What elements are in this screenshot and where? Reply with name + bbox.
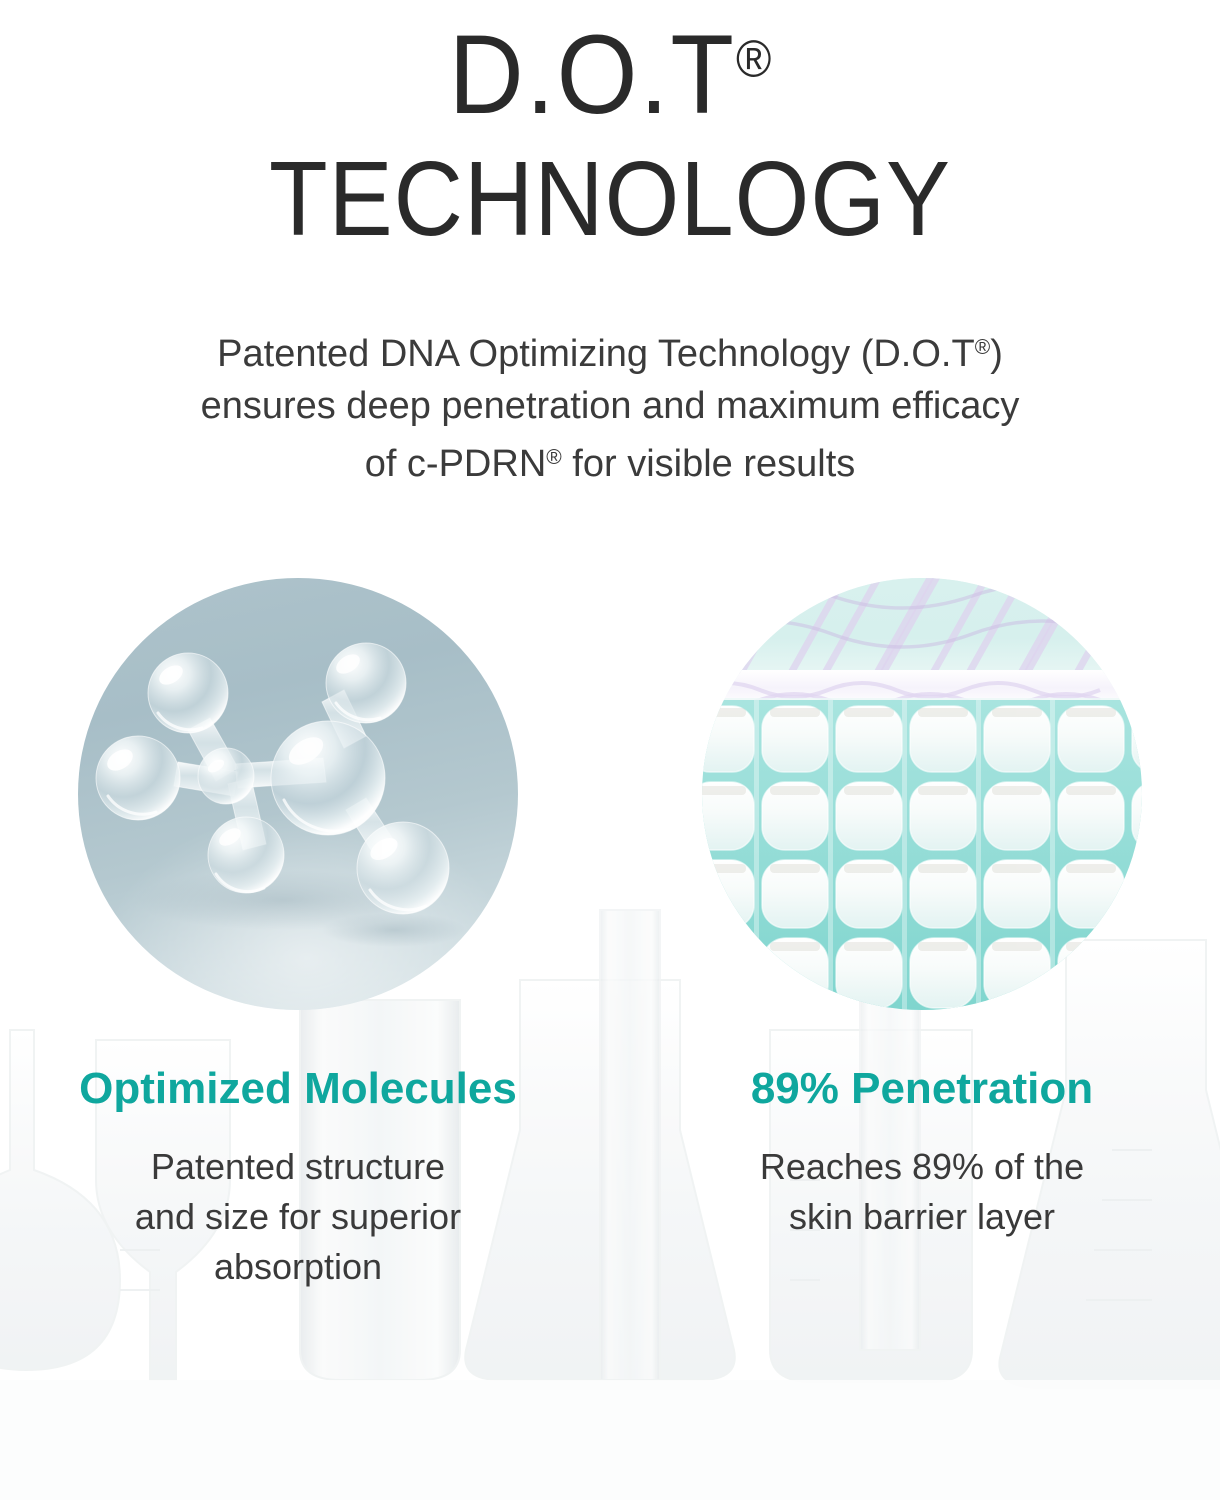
subtitle-line-3-text: of c-PDRN bbox=[365, 443, 547, 485]
page-title-primary-text: D.O.T bbox=[449, 13, 736, 138]
skin-barrier-cross-section-image bbox=[702, 578, 1142, 1010]
registered-trademark-icon: ® bbox=[975, 336, 990, 359]
feature-title-optimized-molecules: Optimized Molecules bbox=[78, 1064, 518, 1114]
molecule-illustration bbox=[78, 578, 518, 1010]
feature-optimized-molecules: Optimized Molecules Patented structure a… bbox=[78, 578, 518, 1292]
subtitle-line-2: ensures deep penetration and maximum eff… bbox=[0, 380, 1220, 432]
page-title-secondary: TECHNOLOGY bbox=[0, 138, 1220, 261]
feature-description-penetration: Reaches 89% of the skin barrier layer bbox=[702, 1142, 1142, 1242]
dot-technology-page: D.O.T® TECHNOLOGY Patented DNA Optimizin… bbox=[0, 0, 1220, 1500]
description-line: and size for superior bbox=[78, 1192, 518, 1242]
page-subtitle: Patented DNA Optimizing Technology (D.O.… bbox=[0, 322, 1220, 490]
subtitle-line-1-suffix: ) bbox=[990, 333, 1003, 375]
feature-description-optimized-molecules: Patented structure and size for superior… bbox=[78, 1142, 518, 1292]
page-title-block: D.O.T® TECHNOLOGY bbox=[0, 0, 1220, 250]
description-line: Patented structure bbox=[78, 1142, 518, 1192]
registered-trademark-icon: ® bbox=[736, 31, 771, 88]
description-line: Reaches 89% of the bbox=[702, 1142, 1142, 1192]
subtitle-line-1-text: Patented DNA Optimizing Technology (D.O.… bbox=[217, 333, 975, 375]
description-line: absorption bbox=[78, 1242, 518, 1292]
subtitle-line-1: Patented DNA Optimizing Technology (D.O.… bbox=[0, 322, 1220, 380]
description-line: skin barrier layer bbox=[702, 1192, 1142, 1242]
feature-title-penetration: 89% Penetration bbox=[702, 1064, 1142, 1114]
feature-penetration: 89% Penetration Reaches 89% of the skin … bbox=[702, 578, 1142, 1242]
subtitle-line-3-suffix: for visible results bbox=[562, 443, 856, 485]
registered-trademark-icon: ® bbox=[546, 446, 561, 469]
skin-barrier-illustration bbox=[702, 578, 1142, 1010]
feature-columns: Optimized Molecules Patented structure a… bbox=[0, 578, 1220, 1292]
molecule-3d-render-image bbox=[78, 578, 518, 1010]
subtitle-line-3: of c-PDRN® for visible results bbox=[0, 432, 1220, 490]
page-title-primary: D.O.T® bbox=[0, 2, 1220, 134]
